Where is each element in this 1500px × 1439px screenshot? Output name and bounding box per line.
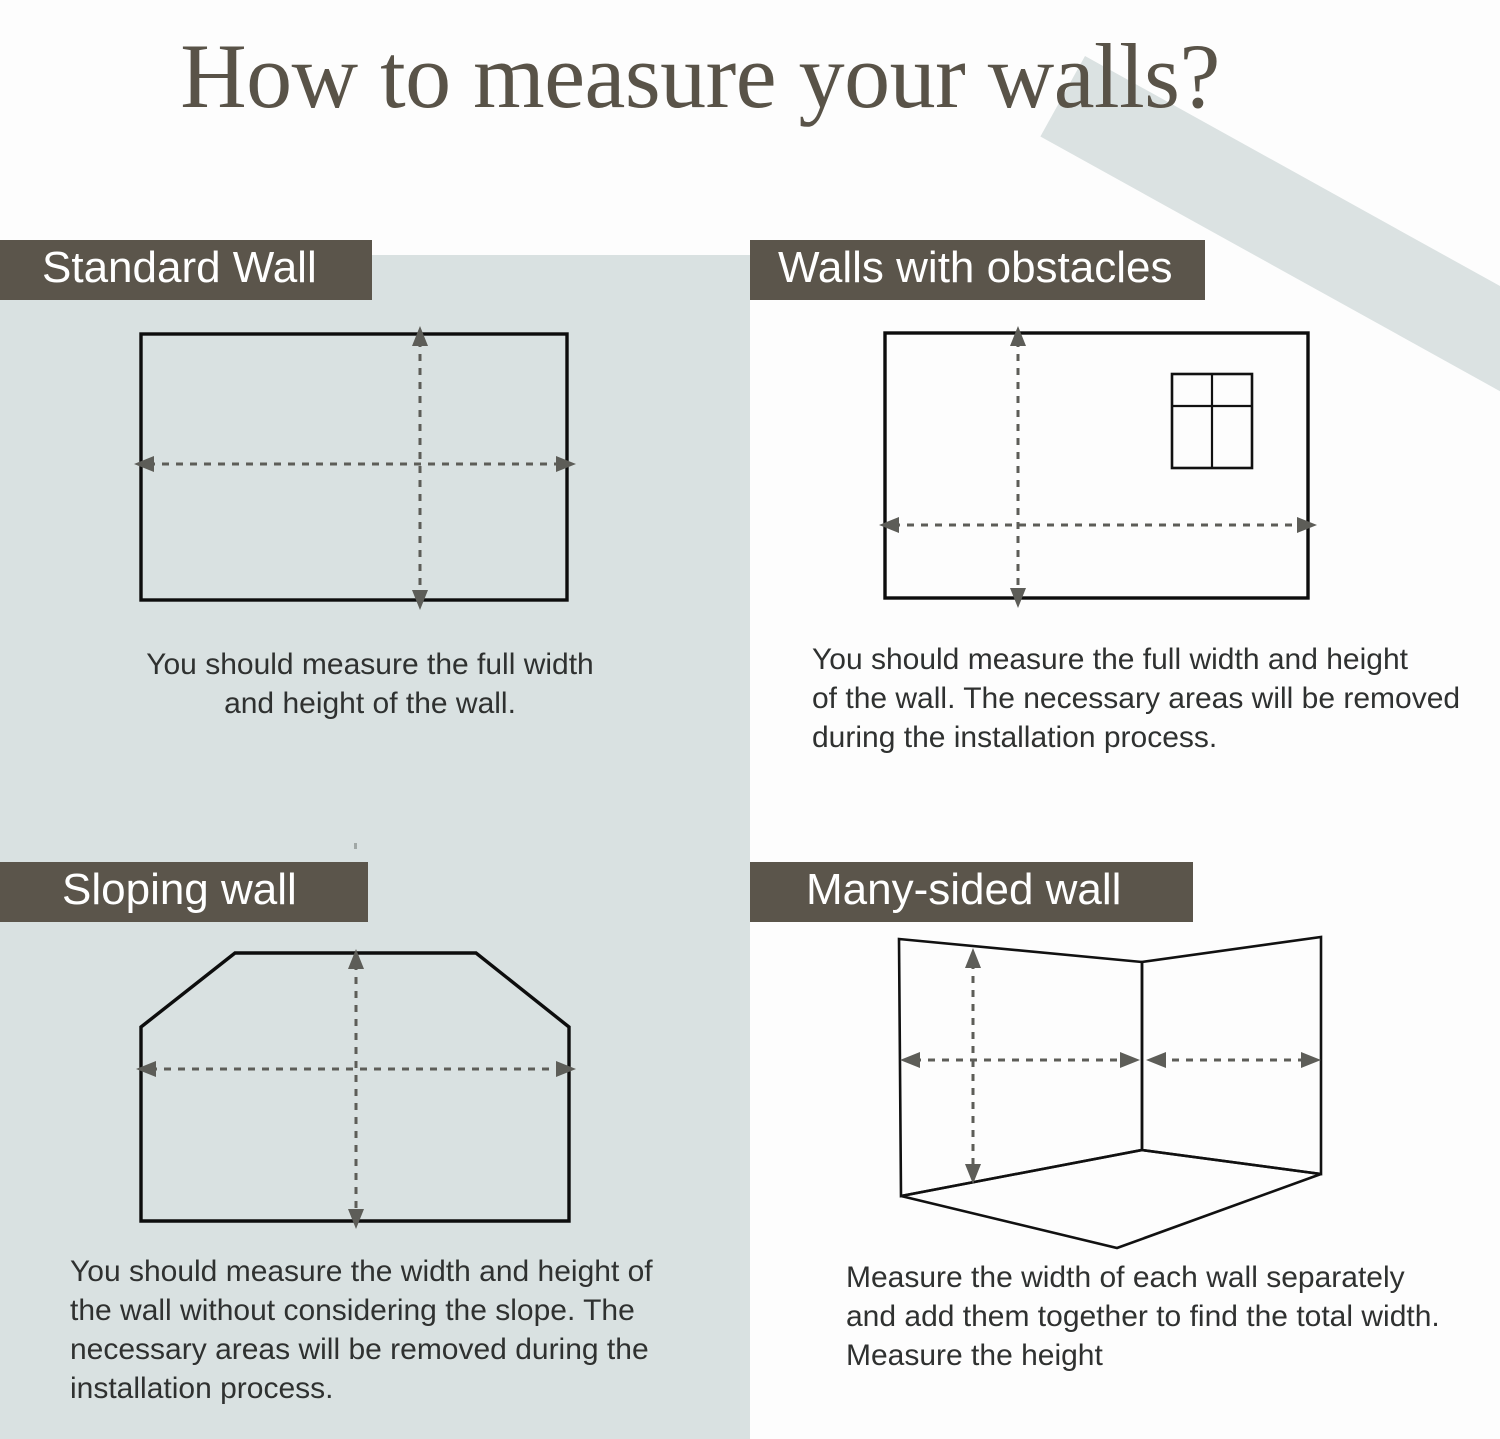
width-dimension-arrow bbox=[879, 517, 1317, 533]
height-dimension-arrow bbox=[348, 949, 364, 1229]
corner-room-diagram bbox=[870, 920, 1350, 1270]
width-dimension-arrow bbox=[134, 456, 576, 472]
caption-sloping-wall: You should measure the width and height … bbox=[70, 1252, 690, 1408]
caption-many-sided-wall: Measure the width of each wall separatel… bbox=[846, 1258, 1466, 1375]
height-dimension-arrow bbox=[412, 326, 428, 610]
floor-face bbox=[901, 1150, 1321, 1248]
section-header-many-sided-wall-label: Many-sided wall bbox=[750, 860, 1193, 920]
left-wall-width-dimension-arrow bbox=[900, 1052, 1140, 1068]
right-wall-face bbox=[1142, 937, 1321, 1174]
standard-wall-rectangle bbox=[141, 334, 567, 600]
sloping-wall-diagram bbox=[120, 935, 600, 1245]
standard-wall-diagram bbox=[120, 320, 590, 620]
section-header-sloping-wall-label: Sloping wall bbox=[0, 860, 368, 920]
section-header-sloping-wall: Sloping wall bbox=[0, 862, 368, 922]
right-wall-width-dimension-arrow bbox=[1146, 1052, 1321, 1068]
section-header-standard-wall: Standard Wall bbox=[0, 240, 372, 300]
caption-standard-wall: You should measure the full width and he… bbox=[110, 645, 630, 723]
infographic-page: How to measure your walls? Standard Wall… bbox=[0, 0, 1500, 1439]
wall-with-window-diagram bbox=[865, 320, 1335, 620]
image-artifact-speck bbox=[354, 843, 357, 849]
page-title: How to measure your walls? bbox=[0, 28, 1400, 125]
section-header-walls-with-obstacles: Walls with obstacles bbox=[750, 240, 1205, 300]
height-dimension-arrow bbox=[965, 948, 981, 1184]
section-header-walls-with-obstacles-label: Walls with obstacles bbox=[750, 238, 1205, 298]
window-icon bbox=[1172, 374, 1252, 468]
caption-walls-with-obstacles: You should measure the full width and he… bbox=[812, 640, 1472, 757]
section-header-many-sided-wall: Many-sided wall bbox=[750, 862, 1193, 922]
section-header-standard-wall-label: Standard Wall bbox=[0, 238, 372, 298]
height-dimension-arrow bbox=[1010, 326, 1026, 608]
